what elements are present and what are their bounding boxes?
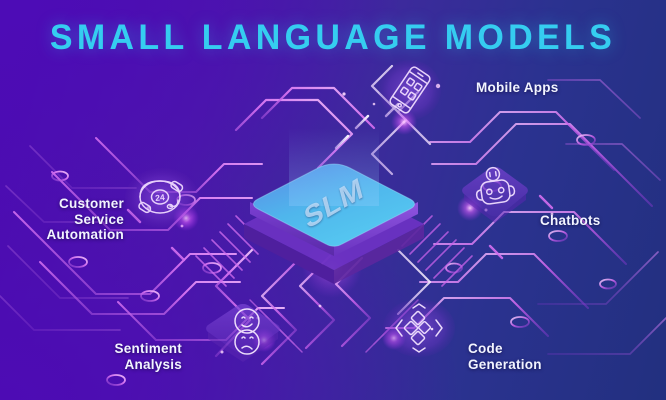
headset-24h-icon: 24	[124, 166, 200, 232]
label-chatbots: Chatbots	[540, 213, 660, 229]
code-brackets-icon	[382, 298, 456, 362]
label-code-generation: Code Generation	[468, 341, 618, 372]
node-code-generation[interactable]	[382, 298, 456, 362]
label-sentiment-analysis: Sentiment Analysis	[58, 341, 182, 372]
page-title: SMALL LANGUAGE MODELS	[10, 18, 656, 58]
robot-icon	[456, 160, 534, 238]
emoji-faces-icon	[198, 298, 288, 372]
label-customer-service-automation: Customer Service Automation	[8, 196, 124, 243]
node-customer-service-automation[interactable]: 24	[124, 166, 200, 232]
node-sentiment-analysis[interactable]	[198, 298, 288, 372]
node-mobile-apps[interactable]	[378, 58, 442, 122]
mobile-phone-icon	[378, 58, 442, 122]
infographic-canvas: SLM SMALL LANGUAGE MODELS Mobile Apps	[0, 0, 666, 400]
svg-text:24: 24	[155, 192, 166, 203]
label-mobile-apps: Mobile Apps	[476, 80, 616, 96]
node-chatbots[interactable]	[456, 160, 534, 238]
slm-chip-body	[244, 164, 424, 284]
